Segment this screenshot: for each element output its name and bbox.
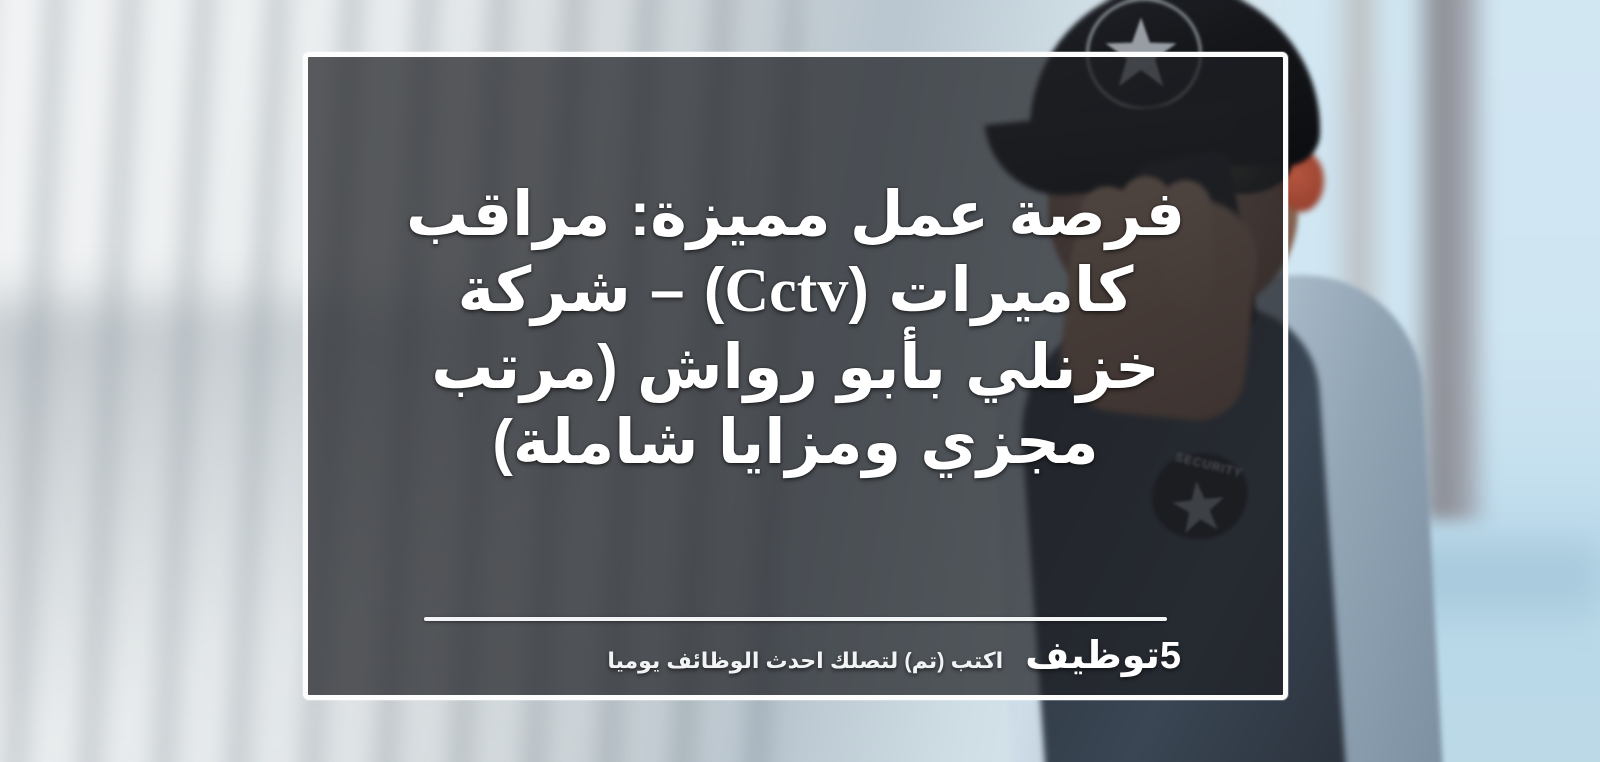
card-footer: 5توظيف اكتب (تم) لتصلك احدث الوظائف يومي… — [308, 617, 1283, 695]
poster-canvas: SECURITY فرصة عمل مميزة: مراقب — [0, 0, 1600, 762]
footer-divider — [424, 617, 1167, 621]
headline-line-3: خزنلي بأبو رواش (مرتب — [431, 333, 1160, 402]
job-announcement-card: فرصة عمل مميزة: مراقب كاميرات (Cctv) – ش… — [303, 52, 1288, 700]
brand-row: 5توظيف اكتب (تم) لتصلك احدث الوظائف يومي… — [354, 637, 1237, 675]
brand-logo-text: 5توظيف — [1025, 637, 1181, 675]
footer-tagline: اكتب (تم) لتصلك احدث الوظائف يوميا — [607, 649, 1003, 673]
page-title: فرصة عمل مميزة: مراقب كاميرات (Cctv) – ش… — [354, 177, 1237, 507]
headline-latin-token: Cctv — [724, 257, 848, 325]
headline-line-4: مجزي ومزايا شاملة) — [492, 408, 1098, 477]
headline-line-1: فرصة عمل مميزة: مراقب — [406, 180, 1185, 249]
headline-line-2: كاميرات (Cctv) – شركة — [458, 256, 1134, 325]
card-body: فرصة عمل مميزة: مراقب كاميرات (Cctv) – ش… — [308, 57, 1283, 617]
